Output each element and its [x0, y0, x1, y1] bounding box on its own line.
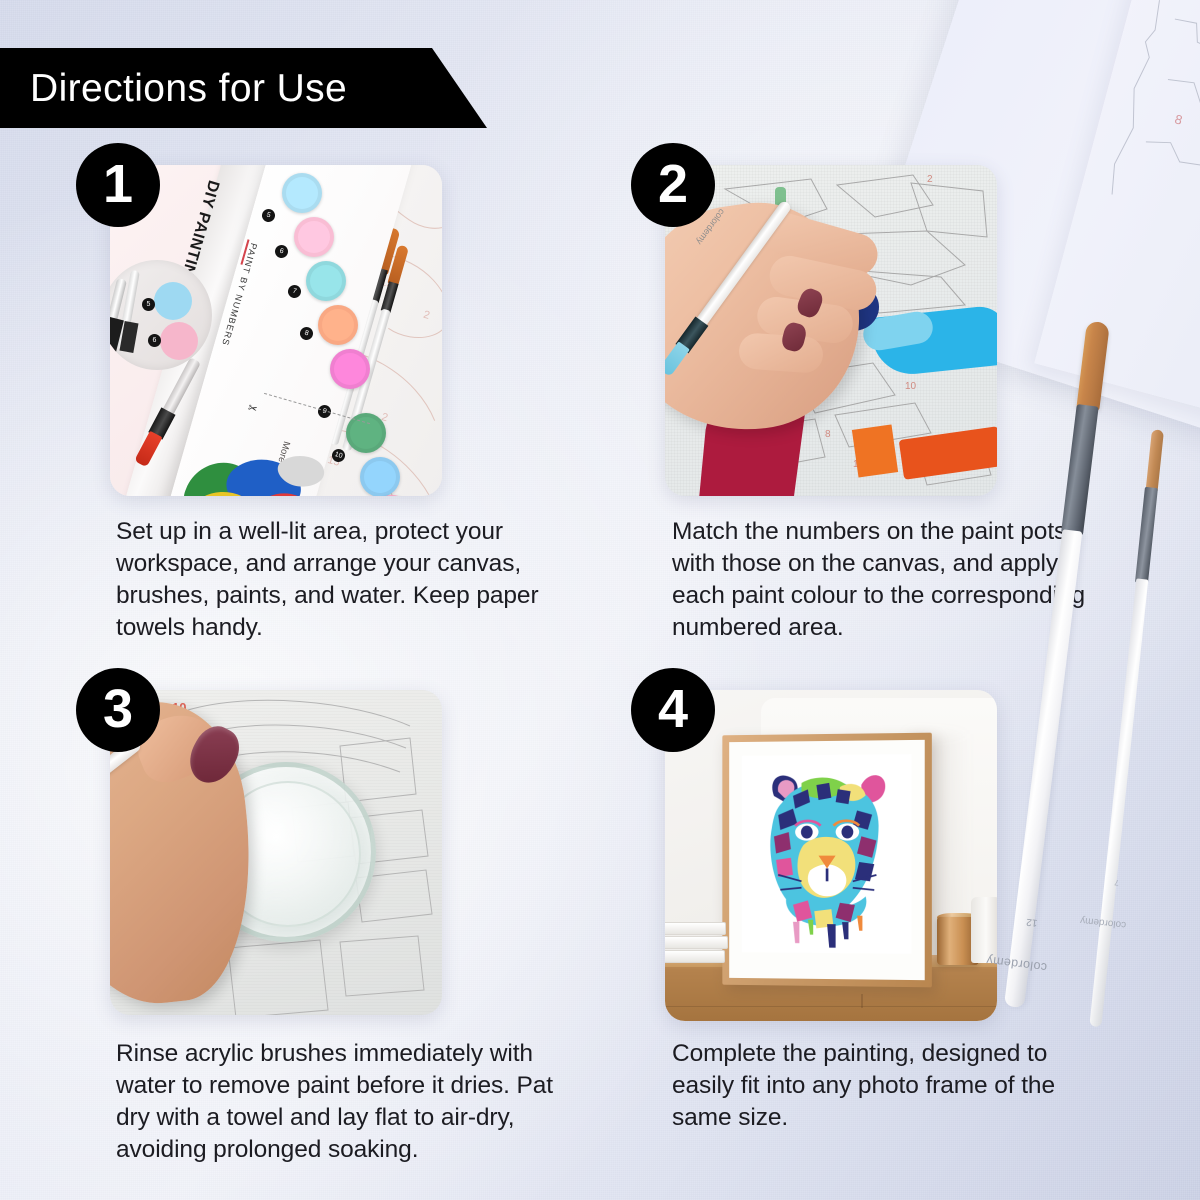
stacked-books — [665, 917, 725, 963]
frame-mat — [729, 740, 925, 980]
tiger-artwork — [742, 754, 912, 954]
svg-text:2: 2 — [927, 174, 933, 185]
brush-bristles — [1076, 321, 1110, 411]
svg-text:2: 2 — [422, 309, 431, 322]
step-badge-1: 1 — [76, 143, 160, 227]
step-caption-4: Complete the painting, designed to easil… — [672, 1038, 1072, 1134]
step-badge-2: 2 — [631, 143, 715, 227]
paint-pot — [306, 261, 346, 301]
picture-frame — [722, 733, 932, 988]
step-card-4: 4 — [665, 690, 997, 1021]
brush-bristles — [1146, 429, 1164, 492]
brush-brand-label: colordemy — [1086, 915, 1127, 930]
brush-size-mark: 12 — [1026, 916, 1038, 928]
step-1-photo: 15 2 15 2 15 15 DIY PAINTING PAINT BY NU… — [110, 165, 442, 496]
little-finger — [738, 332, 824, 374]
step-card-3: 10 3 — [110, 690, 442, 1015]
brush-size-mark: 7 — [1114, 878, 1119, 887]
step-card-1: 15 2 15 2 15 15 DIY PAINTING PAINT BY NU… — [110, 165, 442, 496]
step-badge-4: 4 — [631, 668, 715, 752]
brush-ferrule — [1061, 404, 1099, 536]
step-2-photo: 3 7 15 2 10 8 14 2 1 colordemy — [665, 165, 997, 496]
svg-text:10: 10 — [905, 381, 917, 392]
svg-text:8: 8 — [825, 429, 831, 440]
header-banner: Directions for Use — [0, 48, 500, 128]
step-caption-2: Match the numbers on the paint pots with… — [672, 516, 1092, 644]
paint-pot — [330, 349, 370, 389]
paint-pot — [318, 305, 358, 345]
paint-pot — [282, 173, 322, 213]
step-caption-3: Rinse acrylic brushes immediately with w… — [116, 1038, 586, 1166]
paint-pot — [360, 457, 400, 496]
step-caption-1: Set up in a well-lit area, protect your … — [116, 516, 586, 644]
step-3-photo: 10 — [110, 690, 442, 1015]
orange-paint-area — [852, 424, 898, 477]
step-4-photo — [665, 690, 997, 1021]
brush-ferrule — [1135, 487, 1158, 584]
page-title: Directions for Use — [0, 69, 347, 108]
step-badge-3: 3 — [76, 668, 160, 752]
paint-palette-blobs — [172, 441, 362, 496]
step-card-2: 3 7 15 2 10 8 14 2 1 colordemy — [665, 165, 997, 496]
paint-pot — [294, 217, 334, 257]
